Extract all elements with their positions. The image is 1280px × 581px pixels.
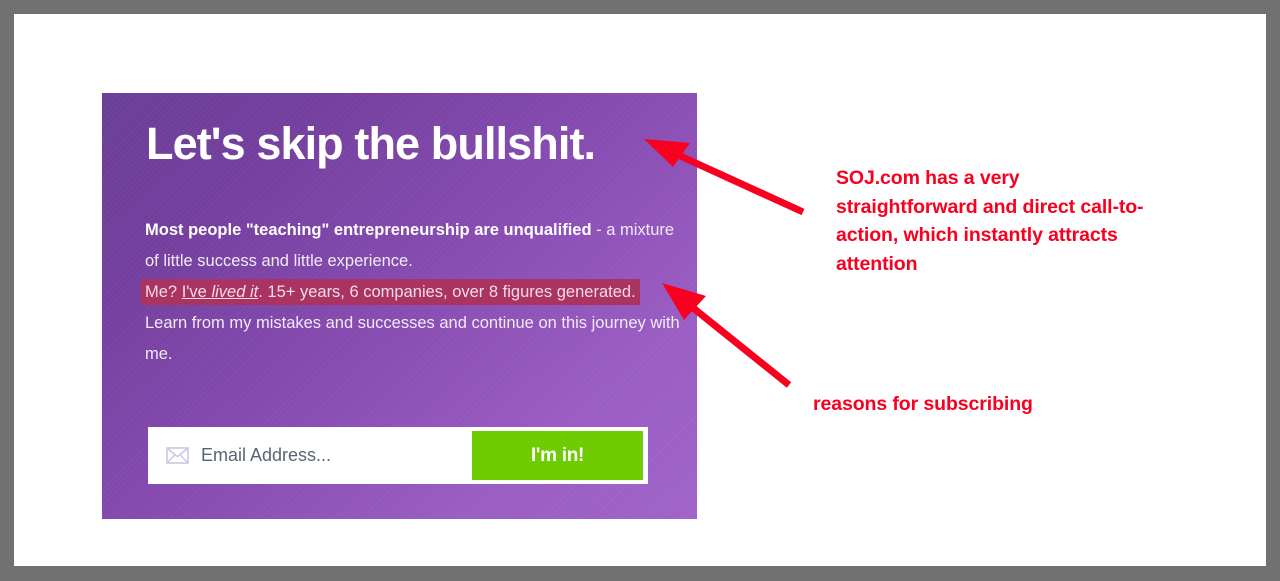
email-signup-form: I'm in! bbox=[148, 427, 648, 484]
page-headline: Let's skip the bullshit. bbox=[146, 119, 686, 169]
email-input[interactable] bbox=[201, 445, 472, 466]
link-plain-text: I've bbox=[182, 283, 212, 301]
link-italic-text: lived it bbox=[211, 283, 258, 301]
highlight-prefix: Me? bbox=[145, 283, 182, 301]
page-surface: Let's skip the bullshit. Most people "te… bbox=[14, 14, 1266, 566]
body-copy: Most people "teaching" entrepreneurship … bbox=[145, 215, 685, 370]
highlighted-credentials-line: Me? I've lived it. 15+ years, 6 companie… bbox=[145, 283, 636, 301]
highlight-rest: . 15+ years, 6 companies, over 8 figures… bbox=[258, 283, 635, 301]
lived-it-link[interactable]: I've lived it bbox=[182, 283, 259, 301]
envelope-icon bbox=[165, 444, 189, 468]
submit-button[interactable]: I'm in! bbox=[472, 431, 643, 480]
annotation-reasons-note: reasons for subscribing bbox=[813, 390, 1113, 419]
body-closing: Learn from my mistakes and successes and… bbox=[145, 314, 680, 363]
annotation-cta-note: SOJ.com has a very straightforward and d… bbox=[836, 164, 1166, 278]
body-lead-bold: Most people "teaching" entrepreneurship … bbox=[145, 221, 592, 239]
optin-card: Let's skip the bullshit. Most people "te… bbox=[102, 93, 697, 519]
screenshot-root: Let's skip the bullshit. Most people "te… bbox=[0, 0, 1280, 581]
